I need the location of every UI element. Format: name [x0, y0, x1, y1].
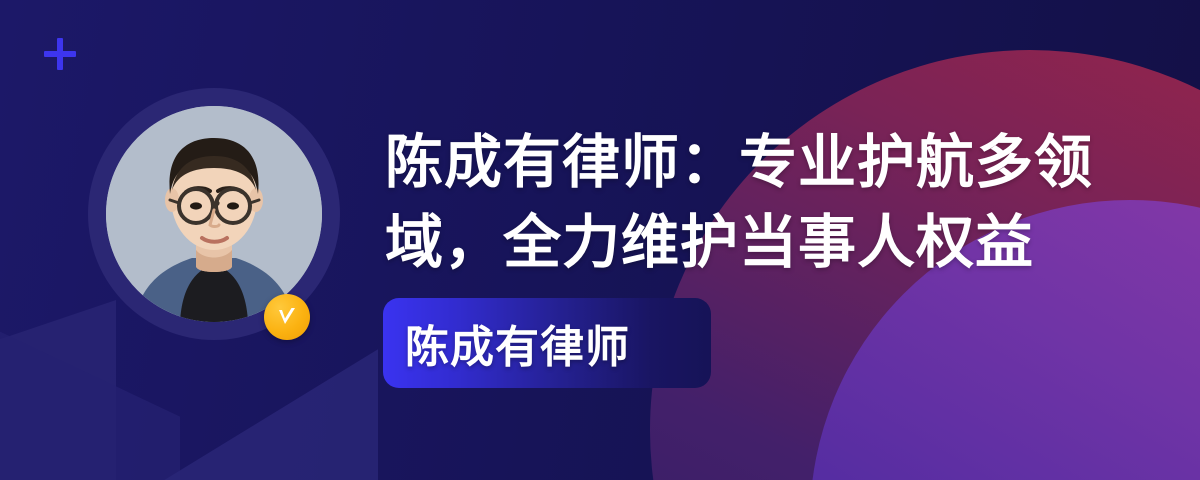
avatar-photo	[106, 106, 322, 322]
promo-banner: 陈成有律师：专业护航多领域，全力维护当事人权益 陈成有律师	[0, 0, 1200, 480]
plus-icon	[44, 38, 76, 70]
verified-check-icon	[264, 294, 310, 340]
page-title: 陈成有律师：专业护航多领域，全力维护当事人权益	[385, 122, 1175, 282]
lawyer-name-label: 陈成有律师	[383, 311, 630, 375]
avatar	[88, 88, 340, 340]
banner-text-column: 陈成有律师：专业护航多领域，全力维护当事人权益	[385, 122, 1175, 282]
lawyer-name-pill[interactable]: 陈成有律师	[383, 298, 711, 388]
